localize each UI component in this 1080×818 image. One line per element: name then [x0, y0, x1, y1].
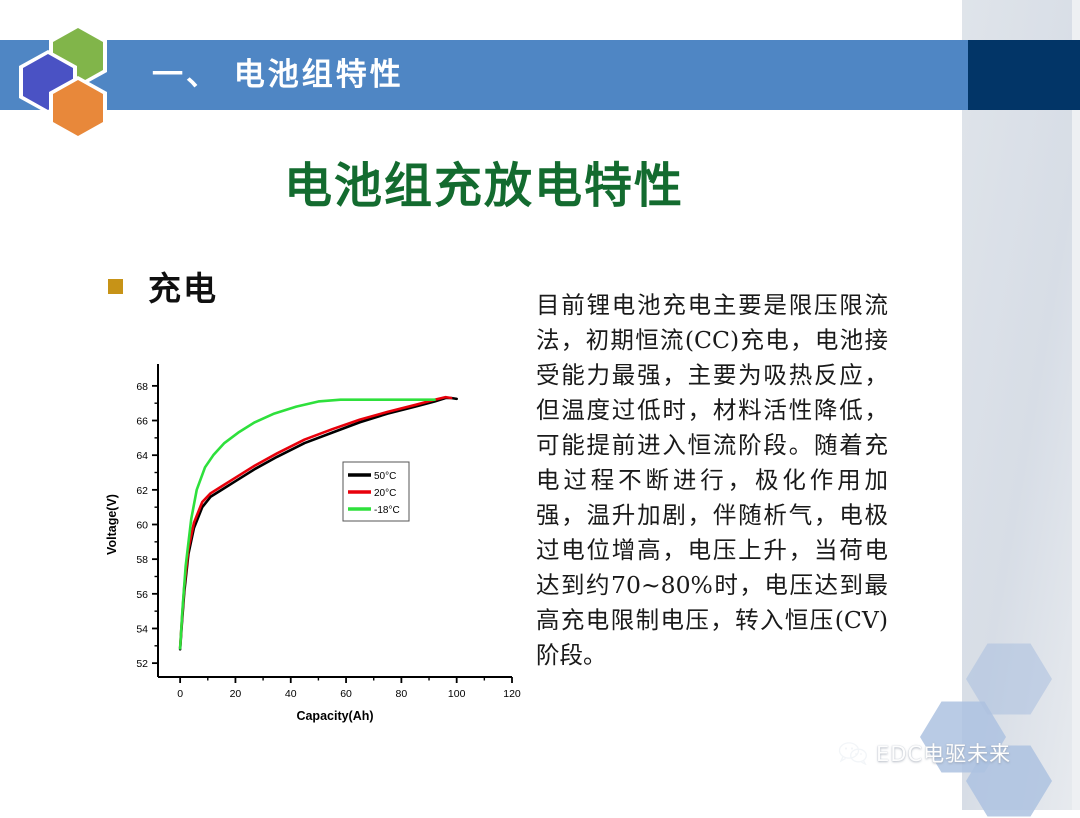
- header-accent-block: [968, 40, 1080, 110]
- y-tick-label: 62: [136, 485, 148, 497]
- bullet-marker-icon: [108, 279, 123, 294]
- x-tick-label: 0: [177, 688, 183, 700]
- x-tick-label: 120: [503, 688, 521, 700]
- x-tick-label: 80: [396, 688, 408, 700]
- y-tick-label: 60: [136, 520, 148, 532]
- bullet-item-charge: 充电: [108, 262, 218, 310]
- y-tick-label: 64: [136, 450, 148, 462]
- section-title: 一、 电池组特性: [152, 50, 404, 100]
- y-tick-label: 52: [136, 658, 148, 670]
- header-bar: [0, 40, 968, 110]
- slide: 一、 电池组特性 电池组充放电特性 充电 目前锂电池充电主要是限压限流法，初期恒…: [0, 0, 1080, 810]
- chart-svg: 525456586062646668020406080100120Capacit…: [100, 350, 530, 735]
- page-title: 电池组充放电特性: [0, 146, 968, 216]
- charge-curve-chart: 525456586062646668020406080100120Capacit…: [100, 350, 530, 735]
- y-tick-label: 58: [136, 554, 148, 566]
- x-axis-label: Capacity(Ah): [296, 709, 373, 723]
- hexagon-logo-icon: [18, 24, 134, 134]
- legend-label-0: 50°C: [374, 471, 396, 482]
- y-axis-label: Voltage(V): [105, 494, 119, 555]
- series-line-2: [180, 400, 434, 649]
- wechat-icon: [838, 741, 868, 765]
- y-tick-label: 56: [136, 589, 148, 601]
- legend-label-1: 20°C: [374, 488, 396, 499]
- x-tick-label: 20: [230, 688, 242, 700]
- x-tick-label: 40: [285, 688, 297, 700]
- series-line-1: [180, 397, 451, 647]
- y-tick-label: 68: [136, 381, 148, 393]
- x-tick-label: 60: [340, 688, 352, 700]
- body-paragraph: 目前锂电池充电主要是限压限流法，初期恒流(CC)充电，电池接受能力最强，主要为吸…: [536, 288, 888, 673]
- x-tick-label: 100: [448, 688, 466, 700]
- legend-label-2: -18°C: [374, 505, 400, 516]
- right-panel-edge: [1072, 0, 1080, 810]
- right-decorative-panel: [962, 0, 1080, 810]
- y-tick-label: 66: [136, 416, 148, 428]
- y-tick-label: 54: [136, 623, 148, 635]
- bullet-label: 充电: [148, 262, 218, 310]
